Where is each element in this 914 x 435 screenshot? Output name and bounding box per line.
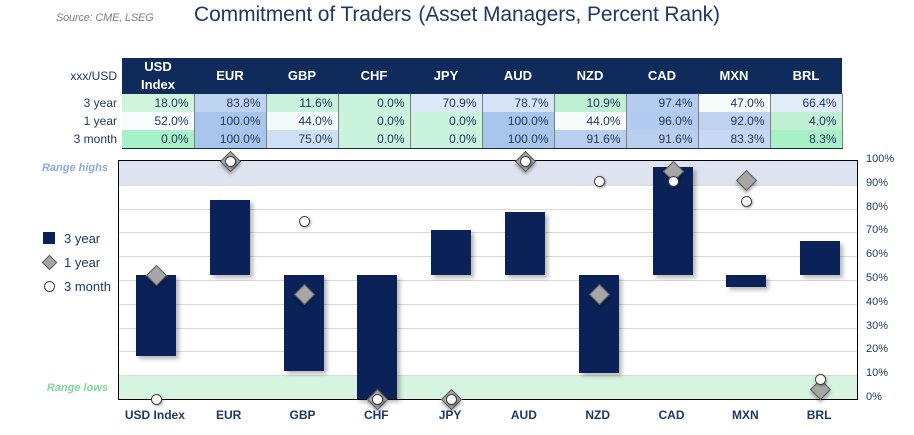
circle-icon-glyph xyxy=(44,281,55,292)
table-cell: 4.0% xyxy=(770,112,842,130)
gridline xyxy=(119,351,857,352)
table-cell: 66.4% xyxy=(770,94,842,112)
range-highs-annotation: Range highs xyxy=(24,162,108,175)
table-cell: 83.3% xyxy=(698,130,770,149)
table-cell: 100.0% xyxy=(194,130,266,149)
y-axis-tick-30: 30% xyxy=(866,320,888,332)
gridline xyxy=(119,328,857,329)
diamond-icon xyxy=(38,257,60,268)
table-body: 3 year18.0%83.8%11.6%0.0%70.9%78.7%10.9%… xyxy=(60,94,842,149)
marker-3month-gbp xyxy=(299,216,310,227)
table-cell: 44.0% xyxy=(266,112,338,130)
y-axis-tick-90: 90% xyxy=(866,177,888,189)
marker-3month-mxn xyxy=(741,196,752,207)
range-lows-annotation: Range lows xyxy=(24,382,108,395)
table-cell: 8.3% xyxy=(770,130,842,149)
table-row: 3 month0.0%100.0%75.0%0.0%0.0%100.0%91.6… xyxy=(60,130,842,149)
table-column-header-mxn: MXN xyxy=(698,58,770,94)
table-column-header-jpy: JPY xyxy=(410,58,482,94)
table-cell: 78.7% xyxy=(482,94,554,112)
marker-3month-cad xyxy=(668,176,679,187)
table-cell: 100.0% xyxy=(482,112,554,130)
y-axis-tick-100: 100% xyxy=(866,153,894,165)
legend-label: 3 year xyxy=(60,231,100,246)
table-cell: 92.0% xyxy=(698,112,770,130)
bar-aud xyxy=(505,212,545,276)
table-cell: 0.0% xyxy=(338,112,410,130)
bar-brl xyxy=(800,241,840,275)
table-column-header-aud: AUD xyxy=(482,58,554,94)
bar-jpy xyxy=(431,230,471,275)
table-cell: 52.0% xyxy=(122,112,194,130)
diamond-icon-glyph xyxy=(41,254,57,270)
table-head: xxx/USD USD IndexEURGBPCHFJPYAUDNZDCADMX… xyxy=(60,58,842,94)
table-cell: 0.0% xyxy=(410,130,482,149)
circle-icon xyxy=(38,281,60,292)
bar-chf xyxy=(357,275,397,399)
table-cell: 10.9% xyxy=(554,94,626,112)
table-cell: 70.9% xyxy=(410,94,482,112)
square-icon-glyph xyxy=(43,232,55,244)
table-cell: 83.8% xyxy=(194,94,266,112)
page-title-main: Commitment of Traders xyxy=(194,3,411,26)
y-axis-tick-80: 80% xyxy=(866,201,888,213)
table-cell: 0.0% xyxy=(122,130,194,149)
table-row: 1 year52.0%100.0%44.0%0.0%0.0%100.0%44.0… xyxy=(60,112,842,130)
table-cell: 0.0% xyxy=(338,130,410,149)
table-cell: 18.0% xyxy=(122,94,194,112)
bar-usd-index xyxy=(136,275,176,356)
square-icon xyxy=(38,232,60,244)
table-column-header-chf: CHF xyxy=(338,58,410,94)
table-cell: 100.0% xyxy=(194,112,266,130)
chart-area: Range highs Range lows 3 year1 year3 mon… xyxy=(0,150,914,435)
table-cell: 91.6% xyxy=(626,130,698,149)
table-column-header-nzd: NZD xyxy=(554,58,626,94)
table-cell: 11.6% xyxy=(266,94,338,112)
legend-label: 1 year xyxy=(60,255,100,270)
chart-legend: 3 year1 year3 month xyxy=(38,226,111,298)
y-axis-tick-0: 0% xyxy=(866,391,882,403)
x-axis-label-brl: BRL xyxy=(774,408,864,422)
percent-rank-table: xxx/USD USD IndexEURGBPCHFJPYAUDNZDCADMX… xyxy=(60,58,843,149)
marker-3month-nzd xyxy=(594,176,605,187)
table-column-header-usd-index: USD Index xyxy=(122,58,194,94)
bar-eur xyxy=(210,200,250,276)
y-axis-tick-20: 20% xyxy=(866,343,888,355)
table-cell: 100.0% xyxy=(482,130,554,149)
table-column-header-gbp: GBP xyxy=(266,58,338,94)
table-cell: 91.6% xyxy=(554,130,626,149)
gridline xyxy=(119,304,857,305)
marker-3month-eur xyxy=(225,156,236,167)
legend-label: 3 month xyxy=(60,279,111,294)
table-corner-label: xxx/USD xyxy=(60,58,122,94)
marker-3month-usd-index xyxy=(151,394,162,405)
marker-3month-aud xyxy=(520,156,531,167)
table-cell: 0.0% xyxy=(338,94,410,112)
table-cell: 96.0% xyxy=(626,112,698,130)
legend-item-3-month[interactable]: 3 month xyxy=(38,274,111,298)
page-title: Commitment of Traders(Asset Managers, Pe… xyxy=(0,3,914,27)
table-row-label: 1 year xyxy=(60,112,122,130)
table: xxx/USD USD IndexEURGBPCHFJPYAUDNZDCADMX… xyxy=(60,58,843,149)
y-axis-tick-70: 70% xyxy=(866,224,888,236)
legend-item-3-year[interactable]: 3 year xyxy=(38,226,111,250)
table-row-label: 3 year xyxy=(60,94,122,112)
table-column-header-eur: EUR xyxy=(194,58,266,94)
table-cell: 0.0% xyxy=(410,112,482,130)
bar-mxn xyxy=(726,275,766,287)
page-title-sub: (Asset Managers, Percent Rank) xyxy=(411,3,720,26)
y-axis-tick-50: 50% xyxy=(866,272,888,284)
table-header-row: xxx/USD USD IndexEURGBPCHFJPYAUDNZDCADMX… xyxy=(60,58,842,94)
y-axis-tick-10: 10% xyxy=(866,367,888,379)
table-row-label: 3 month xyxy=(60,130,122,149)
y-axis-tick-40: 40% xyxy=(866,296,888,308)
legend-item-1-year[interactable]: 1 year xyxy=(38,250,111,274)
table-column-header-brl: BRL xyxy=(770,58,842,94)
gridline xyxy=(119,375,857,376)
table-cell: 97.4% xyxy=(626,94,698,112)
table-cell: 47.0% xyxy=(698,94,770,112)
table-row: 3 year18.0%83.8%11.6%0.0%70.9%78.7%10.9%… xyxy=(60,94,842,112)
plot-area xyxy=(118,160,858,400)
table-cell: 75.0% xyxy=(266,130,338,149)
y-axis-tick-60: 60% xyxy=(866,248,888,260)
range-band-low xyxy=(119,375,857,399)
table-cell: 44.0% xyxy=(554,112,626,130)
table-column-header-cad: CAD xyxy=(626,58,698,94)
